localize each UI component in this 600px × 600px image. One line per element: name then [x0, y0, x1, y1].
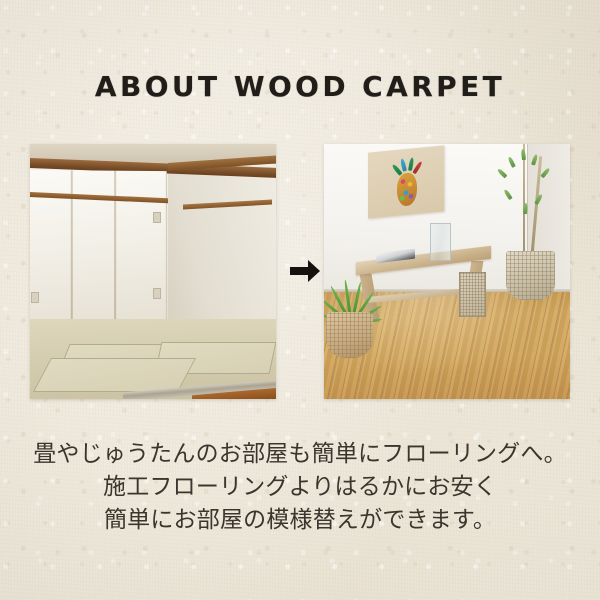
door-handle	[31, 292, 39, 303]
plant-leaf-icon	[540, 167, 550, 178]
glass-vase	[430, 223, 452, 261]
plant-leaf-icon	[496, 168, 507, 179]
tall-corner-plant	[491, 144, 560, 261]
fusuma-seam	[115, 171, 116, 322]
wood-carpet-room-scene	[324, 144, 570, 399]
square-woven-basket	[459, 272, 486, 317]
before-photo[interactable]	[30, 144, 276, 399]
door-handle	[153, 288, 161, 299]
after-photo[interactable]	[324, 144, 570, 399]
tall-woven-basket	[506, 251, 555, 299]
page-title: ABOUT WOOD CARPET	[0, 70, 600, 103]
caption-line-1: 畳やじゅうたんのお部屋も簡単にフローリングへ。	[0, 438, 600, 471]
plant-trunk	[530, 156, 542, 261]
right-wall	[168, 166, 276, 341]
door-handle	[153, 212, 161, 223]
tatami-mat	[33, 358, 196, 392]
caption-line-2: 施工フローリングよりはるかにお安く	[0, 471, 600, 504]
plant-leaf-icon	[507, 156, 515, 168]
arrow-right-icon	[288, 256, 322, 286]
plant-leaf-icon	[531, 153, 538, 165]
plant-leaf-icon	[503, 189, 512, 200]
pineapple-art-frame	[368, 145, 444, 219]
round-woven-basket	[326, 312, 373, 358]
plant-leaf-icon	[523, 202, 528, 213]
tatami-room-scene	[30, 144, 276, 399]
caption-text: 畳やじゅうたんのお部屋も簡単にフローリングへ。 施工フローリングよりはるかにお安…	[0, 438, 600, 537]
pineapple-body-icon	[397, 172, 417, 207]
caption-line-3: 簡単にお部屋の模様替えができます。	[0, 504, 600, 537]
pineapple-leaf-icon	[400, 158, 407, 172]
pineapple-leaf-icon	[413, 161, 424, 174]
